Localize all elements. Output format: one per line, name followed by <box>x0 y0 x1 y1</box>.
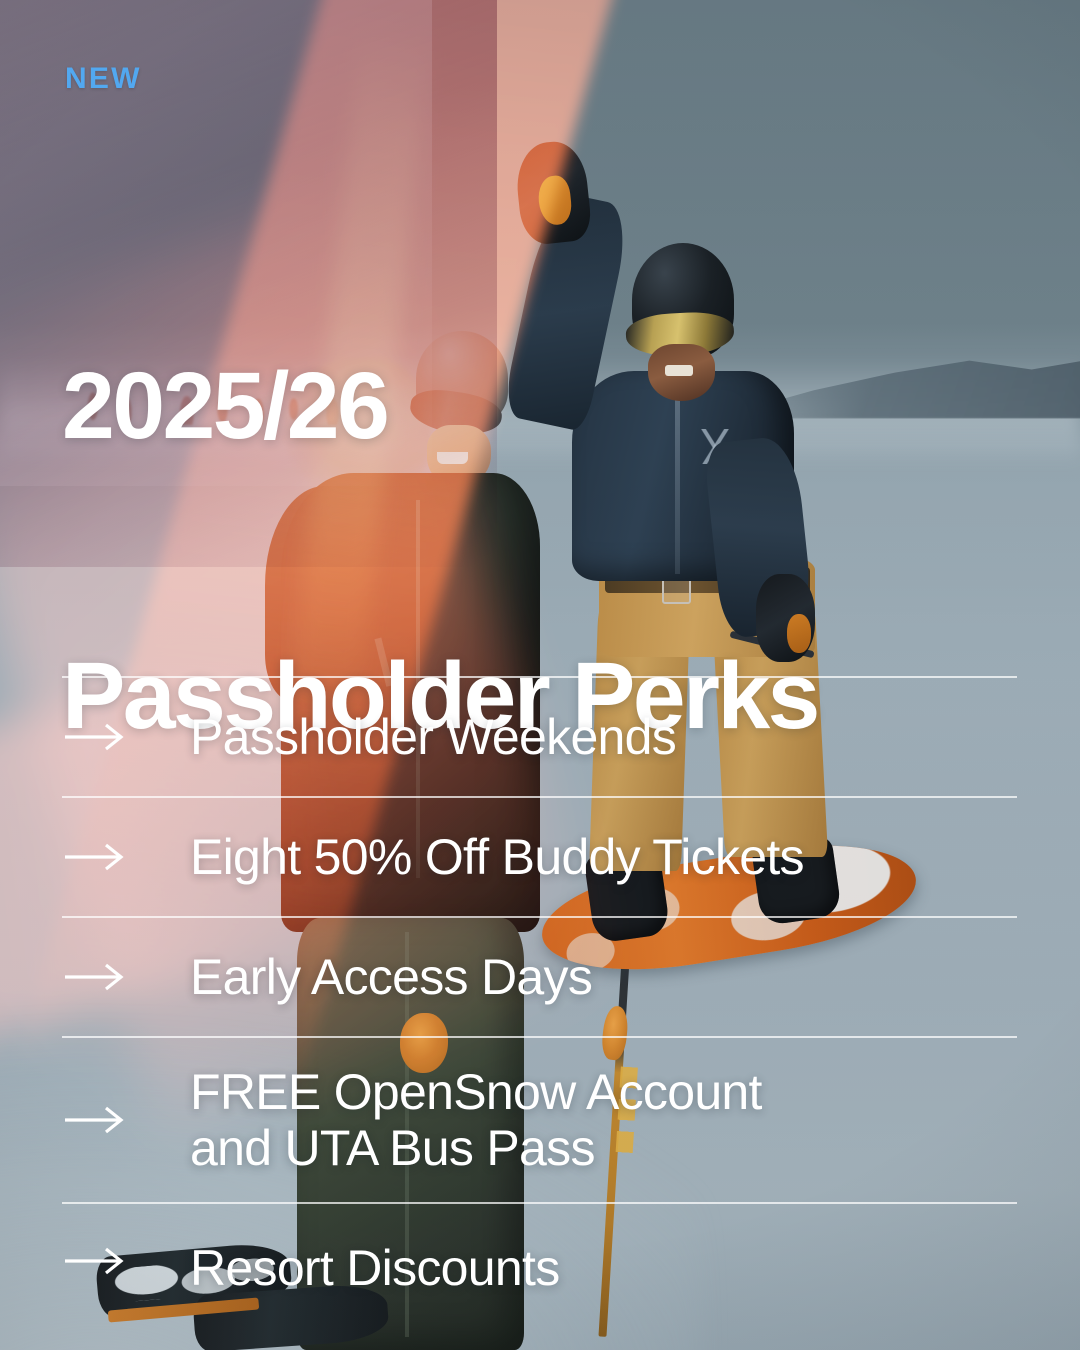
perks-list: Passholder Weekends Eight 50% Off Buddy … <box>62 676 1017 1322</box>
perk-item-resort-discounts[interactable]: Resort Discounts <box>62 1202 1017 1322</box>
perk-label: Eight 50% Off Buddy Tickets <box>190 829 804 885</box>
perk-label: Passholder Weekends <box>190 709 676 765</box>
perk-item-passholder-weekends[interactable]: Passholder Weekends <box>62 676 1017 796</box>
perk-label: Resort Discounts <box>190 1240 560 1296</box>
arrow-right-icon <box>62 962 190 992</box>
arrow-right-icon <box>62 842 190 872</box>
arrow-right-icon <box>62 1240 190 1276</box>
arrow-right-icon <box>62 722 190 752</box>
perk-item-early-access-days[interactable]: Early Access Days <box>62 916 1017 1036</box>
new-badge: NEW <box>65 64 142 94</box>
headline-line-1: 2025/26 <box>62 358 818 455</box>
perk-label: FREE OpenSnow Account and UTA Bus Pass <box>190 1064 762 1176</box>
perk-label: Early Access Days <box>190 949 592 1005</box>
content-layer: NEW 2025/26 Passholder Perks Passholder … <box>0 0 1080 1350</box>
perk-item-opensnow-uta[interactable]: FREE OpenSnow Account and UTA Bus Pass <box>62 1036 1017 1202</box>
poster-canvas: NEW 2025/26 Passholder Perks Passholder … <box>0 0 1080 1350</box>
arrow-right-icon <box>62 1105 190 1135</box>
perk-item-buddy-tickets[interactable]: Eight 50% Off Buddy Tickets <box>62 796 1017 916</box>
